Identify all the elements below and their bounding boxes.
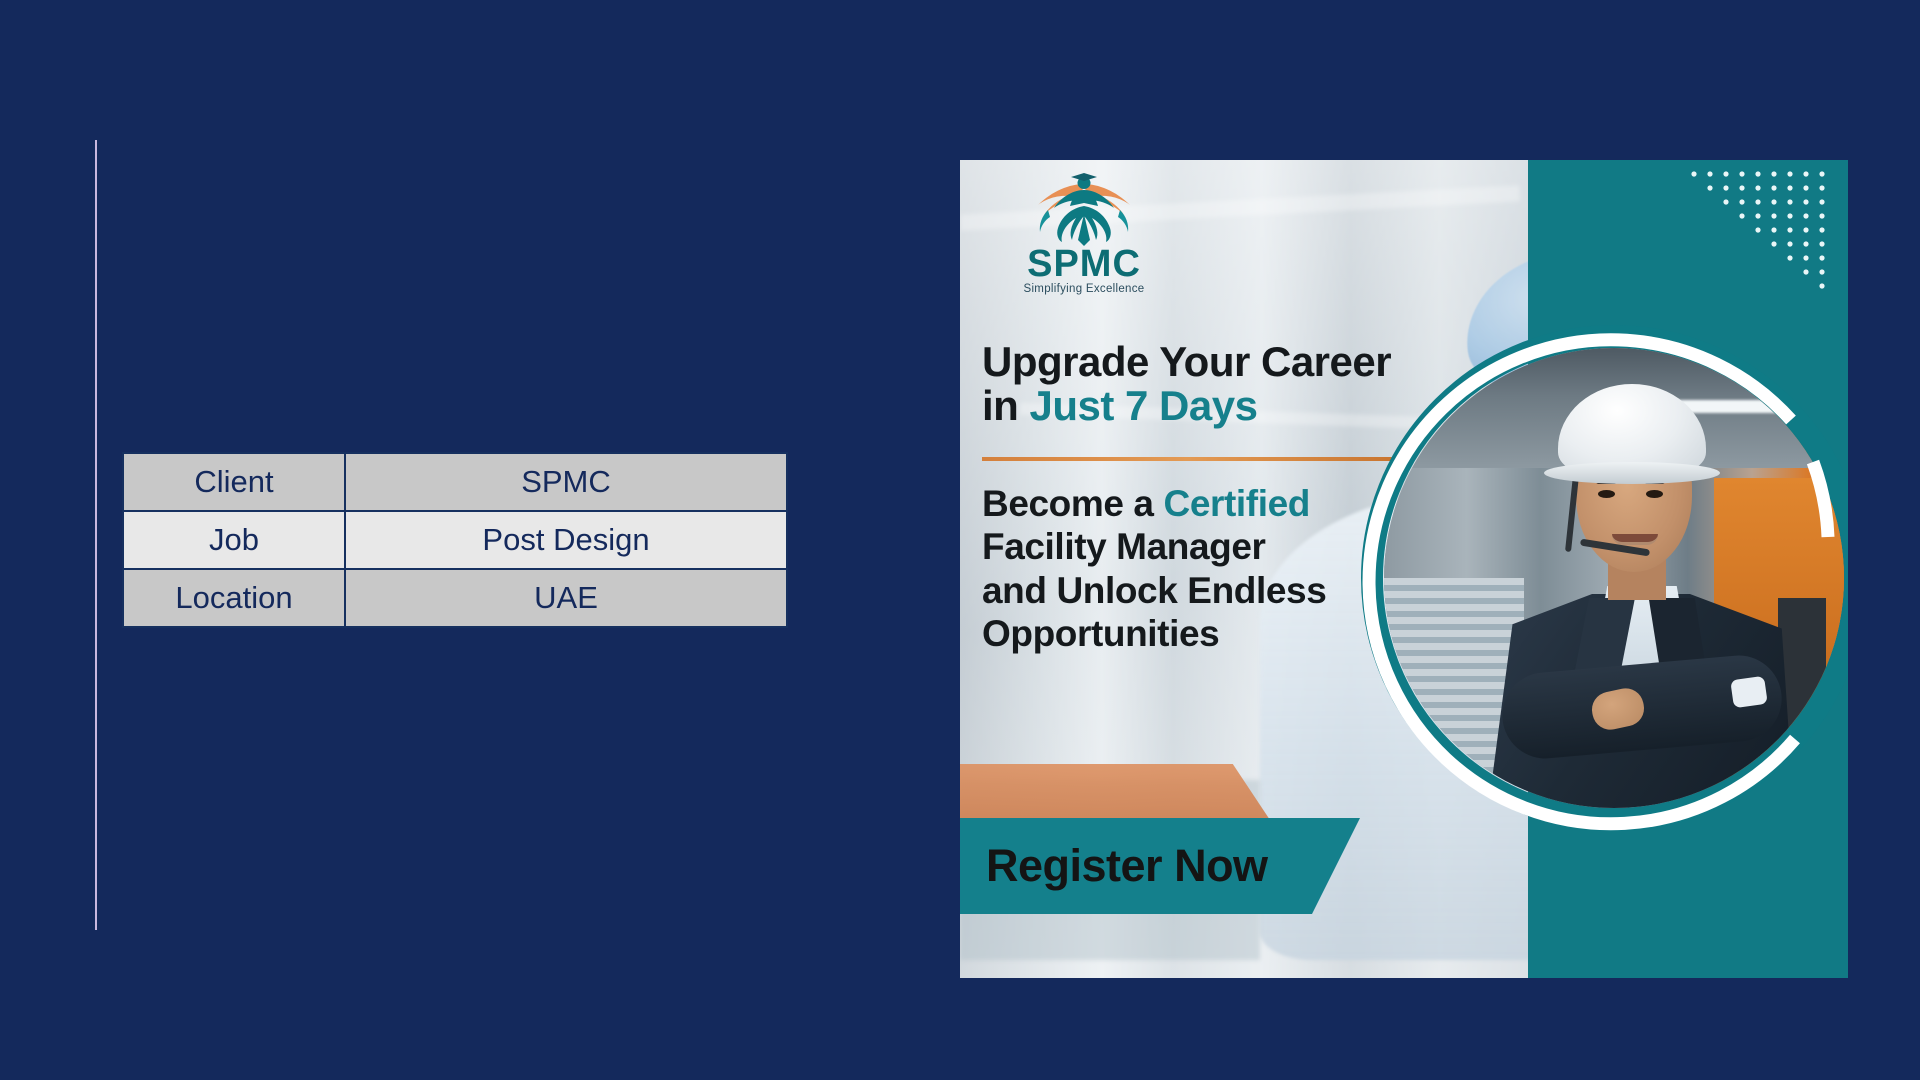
project-details-table: Client SPMC Job Post Design Location UAE [122,452,788,628]
table-cell-label: Client [123,453,345,511]
headline-highlight: Just 7 Days [1030,382,1258,429]
spmc-logo: SPMC Simplifying Excellence [1000,170,1168,298]
table-row: Client SPMC [123,453,787,511]
orange-accent-slab [960,764,1270,820]
portrait-ring-icon [1358,322,1848,834]
table-cell-value: Post Design [345,511,787,569]
dot-pattern-icon [1688,168,1836,300]
headline-divider [982,457,1394,461]
table-row: Job Post Design [123,511,787,569]
table-cell-label: Job [123,511,345,569]
subhead-prefix: Become a [982,483,1164,524]
left-accent-rule [95,140,97,930]
table-cell-label: Location [123,569,345,627]
spmc-tagline: Simplifying Excellence [1000,283,1168,295]
register-now-label: Register Now [960,840,1268,892]
headline-prefix: in [982,382,1030,429]
register-now-button[interactable]: Register Now [960,818,1360,914]
table-cell-value: UAE [345,569,787,627]
spmc-graduate-hands-icon [1022,170,1146,246]
spmc-wordmark: SPMC [1000,246,1168,282]
subhead-highlight-1: Certified [1164,483,1310,524]
table-cell-value: SPMC [345,453,787,511]
spmc-career-poster: SPMC Simplifying Excellence Upgrade Your… [960,160,1848,978]
table-row: Location UAE [123,569,787,627]
portrait-circle [1358,322,1848,834]
